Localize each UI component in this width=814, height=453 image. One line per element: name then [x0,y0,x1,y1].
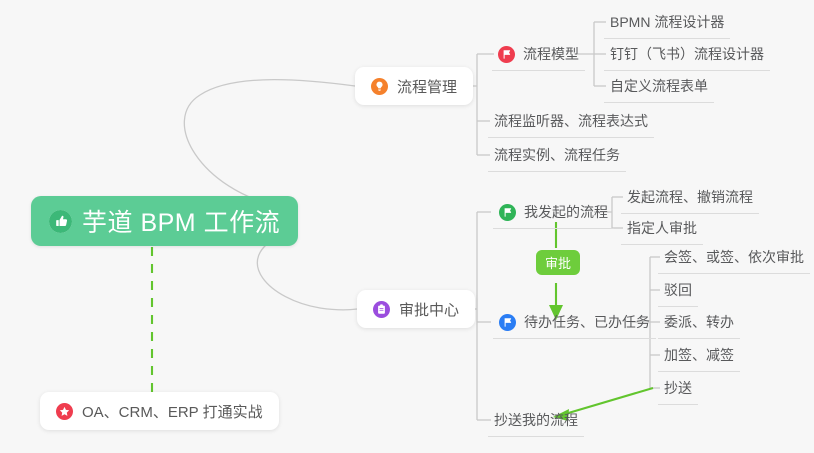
node-label: 会签、或签、依次审批 [664,247,804,267]
node-assignee-approval[interactable]: 指定人审批 [621,217,703,245]
node-dingtalk-designer[interactable]: 钉钉（飞书）流程设计器 [604,43,770,71]
node-reject[interactable]: 驳回 [658,279,698,307]
tag-label: 审批 [545,253,571,272]
node-bpmn-designer[interactable]: BPMN 流程设计器 [604,11,730,39]
flag-icon [498,46,515,63]
flag-icon [499,204,516,221]
node-label: 驳回 [664,280,692,300]
node-label: 指定人审批 [627,218,697,238]
root-label: 芋道 BPM 工作流 [82,203,280,239]
star-icon [56,403,73,420]
node-delegate-transfer[interactable]: 委派、转办 [658,311,740,339]
footnote-label: OA、CRM、ERP 打通实战 [82,401,263,422]
node-my-initiated-process[interactable]: 我发起的流程 [493,201,614,229]
thumbs-up-icon [49,210,72,233]
node-carbon-copy[interactable]: 抄送 [658,377,698,405]
node-add-remove-sign[interactable]: 加签、减签 [658,344,740,372]
node-label: 委派、转办 [664,312,734,332]
node-label: 待办任务、已办任务 [524,312,650,332]
footnote-node[interactable]: OA、CRM、ERP 打通实战 [40,392,279,430]
lightbulb-icon [371,78,388,95]
node-countersign[interactable]: 会签、或签、依次审批 [658,246,810,274]
node-todo-done-tasks[interactable]: 待办任务、已办任务 [493,311,656,339]
node-cc-to-me-process[interactable]: 抄送我的流程 [488,409,584,437]
node-label: 我发起的流程 [524,202,608,222]
node-label: 流程实例、流程任务 [494,145,620,165]
node-label: 自定义流程表单 [610,76,708,96]
node-label: 钉钉（飞书）流程设计器 [610,44,764,64]
node-process-model[interactable]: 流程模型 [492,43,585,71]
node-label: 流程监听器、流程表达式 [494,111,648,131]
node-label: BPMN 流程设计器 [610,12,724,32]
node-custom-form[interactable]: 自定义流程表单 [604,75,714,103]
node-process-instance[interactable]: 流程实例、流程任务 [488,144,626,172]
node-label: 抄送 [664,378,692,398]
branch-label: 流程管理 [397,76,457,97]
clipboard-icon [373,301,390,318]
node-label: 流程模型 [523,44,579,64]
approval-flow-tag: 审批 [536,250,580,275]
branch-label: 审批中心 [399,299,459,320]
branch-approval-center[interactable]: 审批中心 [357,290,475,328]
mindmap-canvas: 芋道 BPM 工作流 流程管理 流程模型 BPMN 流程设计器 钉钉（飞书）流程… [0,0,814,453]
node-label: 加签、减签 [664,345,734,365]
root-node[interactable]: 芋道 BPM 工作流 [31,196,298,246]
node-label: 抄送我的流程 [494,410,578,430]
branch-process-management[interactable]: 流程管理 [355,67,473,105]
node-label: 发起流程、撤销流程 [627,187,753,207]
node-start-cancel-process[interactable]: 发起流程、撤销流程 [621,186,759,214]
flag-icon [499,314,516,331]
node-process-listener[interactable]: 流程监听器、流程表达式 [488,110,654,138]
